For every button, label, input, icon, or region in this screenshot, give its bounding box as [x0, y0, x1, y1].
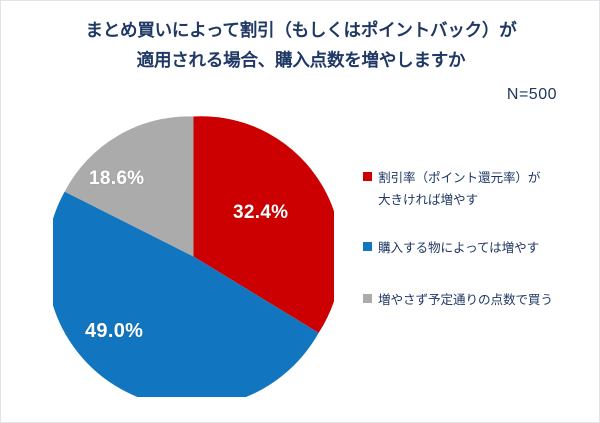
legend-label-depends-on-product: 購入する物によっては増やす: [378, 237, 539, 259]
page-title: まとめ買いによって割引（もしくはポイントバック）が 適用される場合、購入点数を増…: [1, 15, 600, 75]
title-line-1: まとめ買いによって割引（もしくはポイントバック）が: [1, 15, 600, 45]
legend-label-line-1: 割引率（ポイント還元率）が: [378, 171, 540, 185]
pie-chart-svg: [53, 116, 334, 397]
pie-chart: 18.6% 32.4% 49.0%: [53, 116, 334, 397]
legend-label-no-change: 増やさず予定通りの点数で買う: [378, 289, 553, 311]
legend-label-line-2: 大きければ増やす: [378, 189, 540, 211]
legend-swatch-gray-icon: [363, 294, 372, 303]
pie-label-red: 32.4%: [233, 202, 288, 224]
sample-size-label: N=500: [507, 85, 557, 105]
legend-item-discount-rate[interactable]: 割引率（ポイント還元率）が 大きければ増やす: [363, 167, 595, 211]
legend-swatch-red-icon: [363, 172, 372, 181]
pie-label-blue: 49.0%: [85, 320, 143, 343]
title-line-2: 適用される場合、購入点数を増やしますか: [1, 45, 600, 75]
legend-item-depends-on-product[interactable]: 購入する物によっては増やす: [363, 237, 595, 259]
legend-swatch-blue-icon: [363, 242, 372, 251]
pie-label-gray: 18.6%: [89, 168, 144, 190]
legend-label-discount-rate: 割引率（ポイント還元率）が 大きければ増やす: [378, 167, 540, 211]
legend-item-no-change[interactable]: 増やさず予定通りの点数で買う: [363, 289, 595, 311]
pie-chart-infographic: まとめ買いによって割引（もしくはポイントバック）が 適用される場合、購入点数を増…: [0, 0, 600, 423]
legend: 割引率（ポイント還元率）が 大きければ増やす 購入する物によっては増やす 増やさ…: [363, 167, 595, 337]
